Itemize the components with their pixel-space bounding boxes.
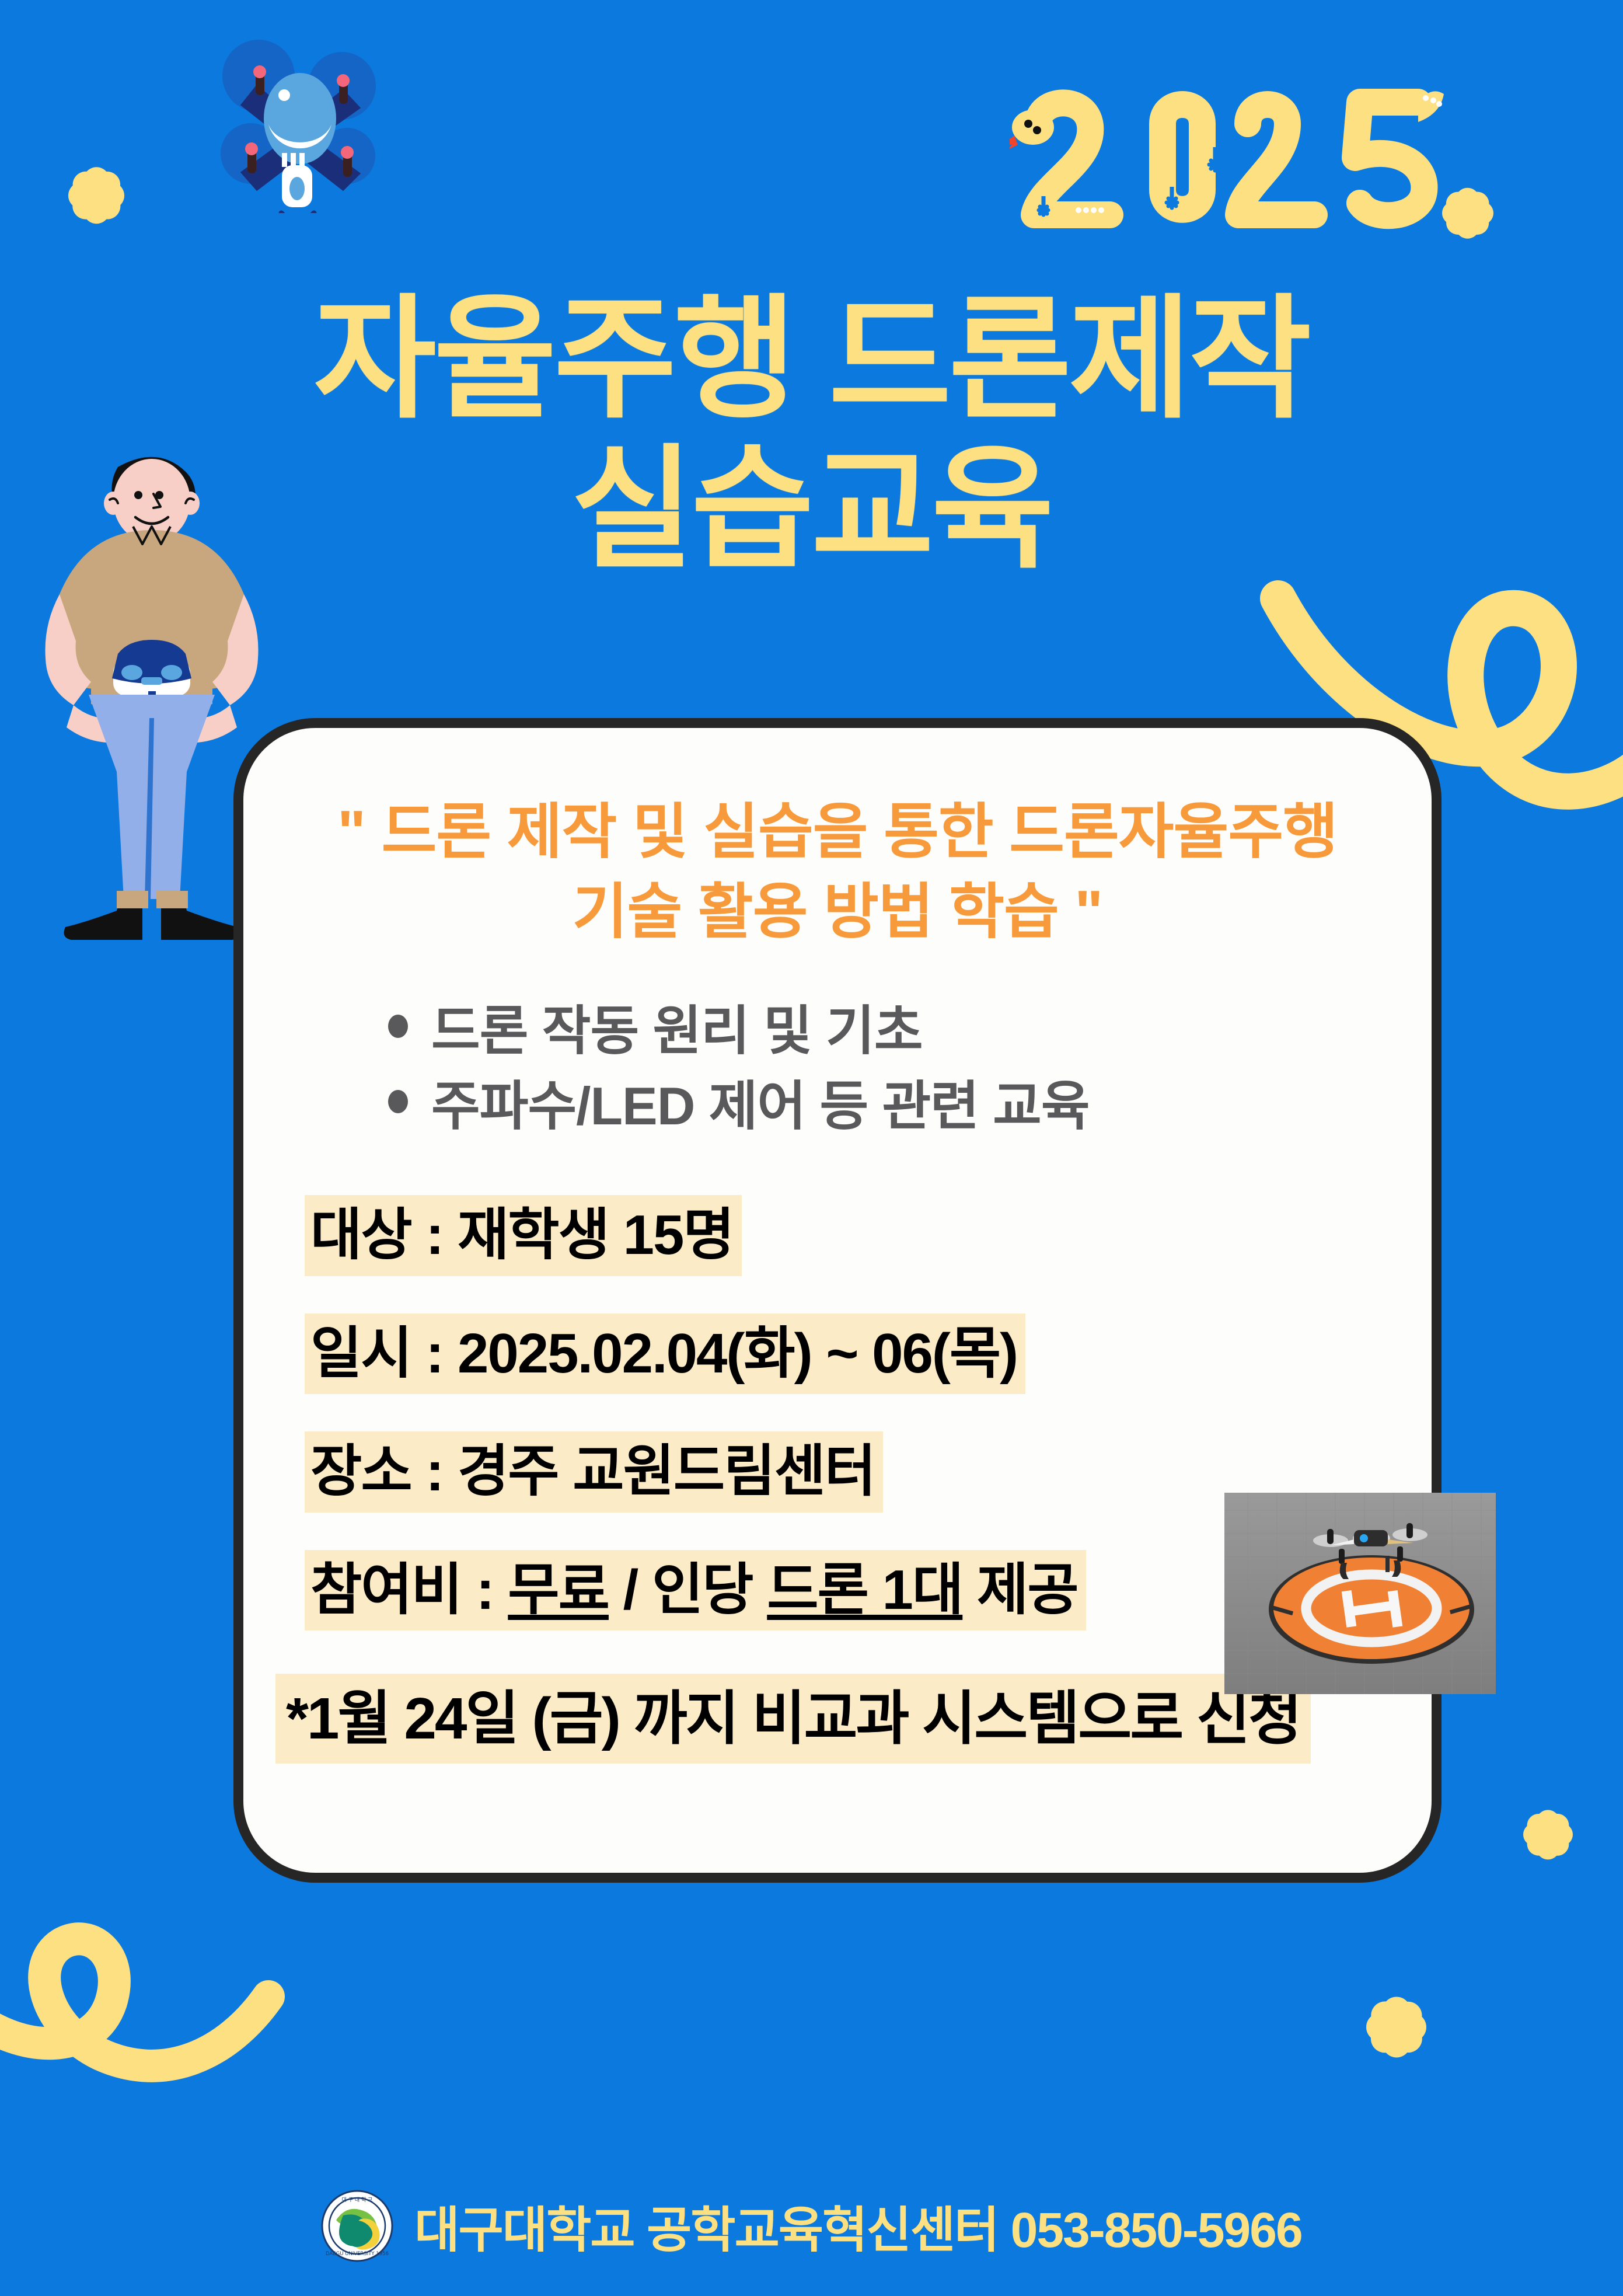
info-row-target: 대상 : 재학생 15명 xyxy=(305,1195,1355,1276)
footer: 대 구 대 학 교 DAEGU UNIVERSITY 1956 대구대학교 공학… xyxy=(0,2190,1623,2262)
snake-2025-icon xyxy=(1010,70,1453,245)
fee-underline-drone: 드론 1대 xyxy=(767,1559,962,1621)
notice-text: *1월 24일 (금) 까지 비교과 시스템으로 신청 xyxy=(275,1674,1311,1764)
svg-text:DAEGU UNIVERSITY 1956: DAEGU UNIVERSITY 1956 xyxy=(326,2251,389,2257)
drone-helipad-photo xyxy=(1224,1493,1496,1694)
info-fee-text: 참여비 : 무료 / 인당 드론 1대 제공 xyxy=(305,1550,1086,1631)
content-card: " 드론 제작 및 실습을 통한 드론자율주행 기술 활용 방법 학습 " 드론… xyxy=(233,718,1441,1883)
quote-block: " 드론 제작 및 실습을 통한 드론자율주행 기술 활용 방법 학습 " xyxy=(243,792,1432,952)
bullet-label: 주파수/LED 제어 등 관련 교육 xyxy=(431,1077,1090,1136)
info-target-text: 대상 : 재학생 15명 xyxy=(305,1195,742,1276)
asterisk-star-icon xyxy=(1494,1781,1602,1889)
bullet-list: 드론 작동 원리 및 기초 주파수/LED 제어 등 관련 교육 xyxy=(378,994,1311,1144)
info-location-text: 장소 : 경주 교원드림센터 xyxy=(305,1431,883,1513)
fee-prefix: 참여비 : xyxy=(310,1559,508,1621)
asterisk-star-icon xyxy=(35,134,158,257)
fee-middle: / 인당 xyxy=(609,1559,767,1621)
bullet-label: 드론 작동 원리 및 기초 xyxy=(431,1002,923,1061)
bullet-dot-icon xyxy=(388,1090,408,1113)
quote-line-1: " 드론 제작 및 실습을 통한 드론자율주행 xyxy=(243,792,1432,872)
info-row-datetime: 일시 : 2025.02.04(화) ~ 06(목) xyxy=(305,1314,1355,1395)
list-item: 주파수/LED 제어 등 관련 교육 xyxy=(378,1069,1311,1144)
drone-icon xyxy=(175,20,426,213)
svg-text:대 구 대 학 교: 대 구 대 학 교 xyxy=(342,2197,373,2203)
quote-line-2: 기술 활용 방법 학습 " xyxy=(243,872,1432,952)
info-rows: 대상 : 재학생 15명 일시 : 2025.02.04(화) ~ 06(목) … xyxy=(305,1195,1355,1668)
list-item: 드론 작동 원리 및 기초 xyxy=(378,994,1311,1069)
poster-root: 자율주행 드론제작 실습교육 xyxy=(0,0,1623,2296)
title-line-1: 자율주행 드론제작 xyxy=(0,292,1623,428)
curly-squiggle-icon xyxy=(0,1909,292,2102)
university-seal-icon: 대 구 대 학 교 DAEGU UNIVERSITY 1956 xyxy=(321,2190,393,2262)
fee-suffix: 제공 xyxy=(962,1559,1077,1621)
fee-underline-free: 무료 xyxy=(508,1559,609,1621)
footer-contact-text: 대구대학교 공학교육혁신센터 053-850-5966 xyxy=(414,2191,1301,2262)
info-row-location: 장소 : 경주 교원드림센터 xyxy=(305,1431,1355,1513)
bullet-dot-icon xyxy=(388,1015,408,1038)
asterisk-star-icon xyxy=(1331,1961,1462,2093)
info-row-fee: 참여비 : 무료 / 인당 드론 1대 제공 xyxy=(305,1550,1355,1631)
info-datetime-text: 일시 : 2025.02.04(화) ~ 06(목) xyxy=(305,1314,1025,1395)
